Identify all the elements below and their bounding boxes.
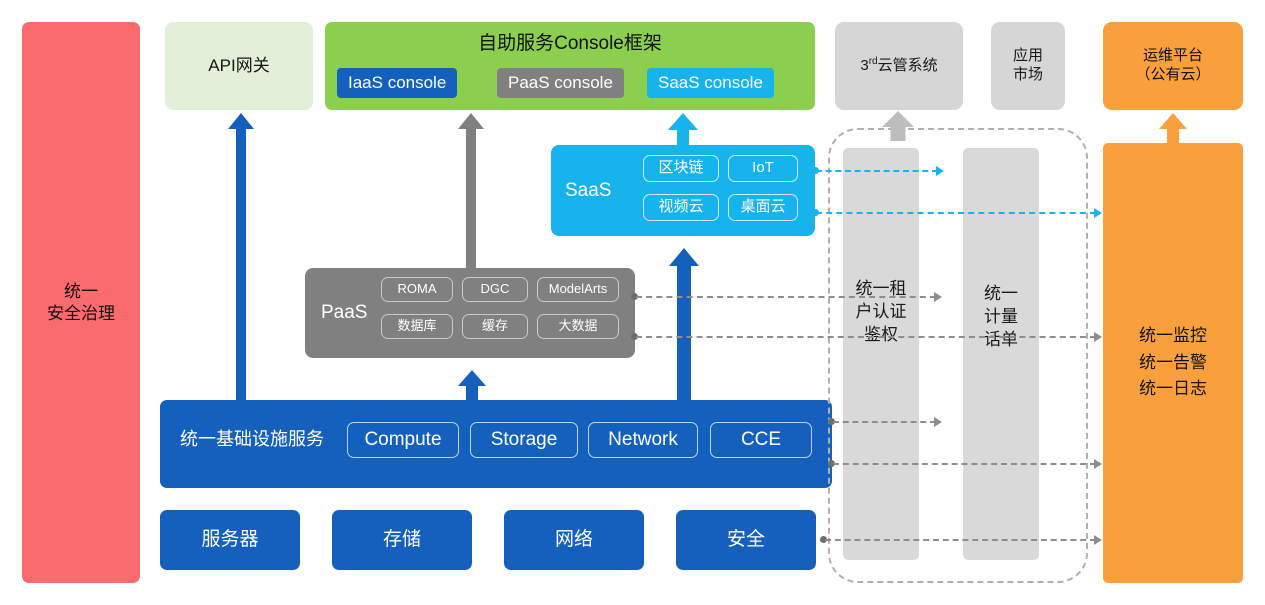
hardware-item-storage[interactable]: 存储: [332, 510, 472, 570]
infra-item-storage[interactable]: Storage: [470, 422, 578, 458]
infra-item-network[interactable]: Network: [588, 422, 698, 458]
ops-body-line1: 统一监控: [1139, 323, 1207, 349]
auth-line2: 户认证: [856, 301, 907, 324]
console-frame-title: 自助服务Console框架: [325, 32, 815, 56]
app-market-box[interactable]: 应用 市场: [991, 22, 1065, 110]
connector-arrowhead-paas-to-ops: [1094, 332, 1102, 342]
unified-infrastructure-box[interactable]: 统一基础设施服务 Compute Storage Network CCE: [160, 400, 832, 488]
third-party-cloud-mgmt-box[interactable]: 3rd云管系统: [835, 22, 963, 110]
connector-saas-to-auth: [816, 170, 938, 172]
paas-item-dgc[interactable]: DGC: [462, 277, 528, 302]
third-party-label: 3rd云管系统: [860, 56, 937, 76]
hardware-item-security[interactable]: 安全: [676, 510, 816, 570]
infrastructure-label: 统一基础设施服务: [180, 428, 324, 451]
app-market-line2: 市场: [1013, 66, 1043, 85]
connector-hardware-to-ops: [825, 539, 1096, 541]
arrow-shared-to-ops-platform: [1159, 113, 1187, 145]
third-party-prefix: 3: [860, 57, 868, 74]
paas-console-chip[interactable]: PaaS console: [497, 68, 624, 98]
ops-platform-body-box[interactable]: 统一监控 统一告警 统一日志: [1103, 143, 1243, 583]
connector-arrowhead-infra-to-ops: [1094, 459, 1102, 469]
ops-platform-line1: 运维平台: [1135, 47, 1210, 66]
iaas-console-chip[interactable]: IaaS console: [337, 68, 457, 98]
connector-paas-to-auth: [636, 296, 936, 298]
paas-item-modelarts[interactable]: ModelArts: [537, 277, 619, 302]
api-gateway-label: API网关: [208, 55, 269, 76]
arrow-infra-to-paas: [459, 370, 485, 402]
connector-arrowhead-saas-to-ops: [1094, 208, 1102, 218]
infra-item-compute[interactable]: Compute: [347, 422, 459, 458]
connector-infra-to-auth: [833, 421, 936, 423]
third-party-superscript: rd: [869, 56, 878, 67]
app-market-line1: 应用: [1013, 47, 1043, 66]
hardware-item-network[interactable]: 网络: [504, 510, 644, 570]
saas-item-video-cloud[interactable]: 视频云: [643, 194, 719, 221]
ops-platform-header-box[interactable]: 运维平台 （公有云）: [1103, 22, 1243, 110]
ops-body-line3: 统一日志: [1139, 376, 1207, 402]
metering-line3: 话单: [984, 329, 1018, 352]
metering-line1: 统一: [984, 283, 1018, 306]
connector-saas-to-ops: [816, 212, 1096, 214]
connector-infra-to-ops: [833, 463, 1096, 465]
metering-line2: 计量: [984, 306, 1018, 329]
unified-security-governance-box[interactable]: 统一 安全治理: [22, 22, 140, 583]
governance-label-line2: 安全治理: [47, 303, 115, 324]
paas-box[interactable]: PaaS ROMA DGC ModelArts 数据库 缓存 大数据: [305, 268, 635, 358]
arrow-infra-to-api-gateway: [228, 113, 254, 401]
unified-metering-billing-column[interactable]: 统一 计量 话单: [963, 148, 1039, 560]
saas-item-blockchain[interactable]: 区块链: [643, 155, 719, 182]
governance-label-line1: 统一: [47, 281, 115, 302]
connector-arrowhead-infra-to-auth: [934, 417, 942, 427]
arrow-saas-to-console: [668, 113, 698, 147]
unified-tenant-auth-column[interactable]: 统一租 户认证 鉴权: [843, 148, 919, 560]
arrow-shared-to-third-party: [882, 111, 914, 141]
paas-item-cache[interactable]: 缓存: [462, 314, 528, 339]
self-service-console-frame[interactable]: 自助服务Console框架 IaaS console PaaS console …: [325, 22, 815, 110]
third-party-suffix: 云管系统: [878, 57, 938, 74]
arrow-infra-to-saas: [670, 248, 698, 402]
paas-item-roma[interactable]: ROMA: [381, 277, 453, 302]
connector-arrowhead-saas-to-auth: [936, 166, 944, 176]
saas-console-chip[interactable]: SaaS console: [647, 68, 774, 98]
architecture-diagram: 统一 安全治理 API网关 自助服务Console框架 IaaS console…: [0, 0, 1265, 605]
saas-label: SaaS: [565, 179, 611, 203]
infra-item-cce[interactable]: CCE: [710, 422, 812, 458]
ops-platform-line2: （公有云）: [1135, 66, 1210, 85]
paas-item-bigdata[interactable]: 大数据: [537, 314, 619, 339]
arrow-paas-to-console: [458, 113, 484, 269]
api-gateway-box[interactable]: API网关: [165, 22, 313, 110]
connector-arrowhead-hardware-to-ops: [1094, 535, 1102, 545]
paas-label: PaaS: [321, 301, 367, 325]
saas-box[interactable]: SaaS 区块链 IoT 视频云 桌面云: [551, 145, 815, 236]
ops-body-line2: 统一告警: [1139, 350, 1207, 376]
hardware-item-server[interactable]: 服务器: [160, 510, 300, 570]
saas-item-desktop-cloud[interactable]: 桌面云: [728, 194, 798, 221]
connector-paas-to-ops: [636, 336, 1096, 338]
connector-arrowhead-paas-to-auth: [934, 292, 942, 302]
paas-item-database[interactable]: 数据库: [381, 314, 453, 339]
saas-item-iot[interactable]: IoT: [728, 155, 798, 182]
